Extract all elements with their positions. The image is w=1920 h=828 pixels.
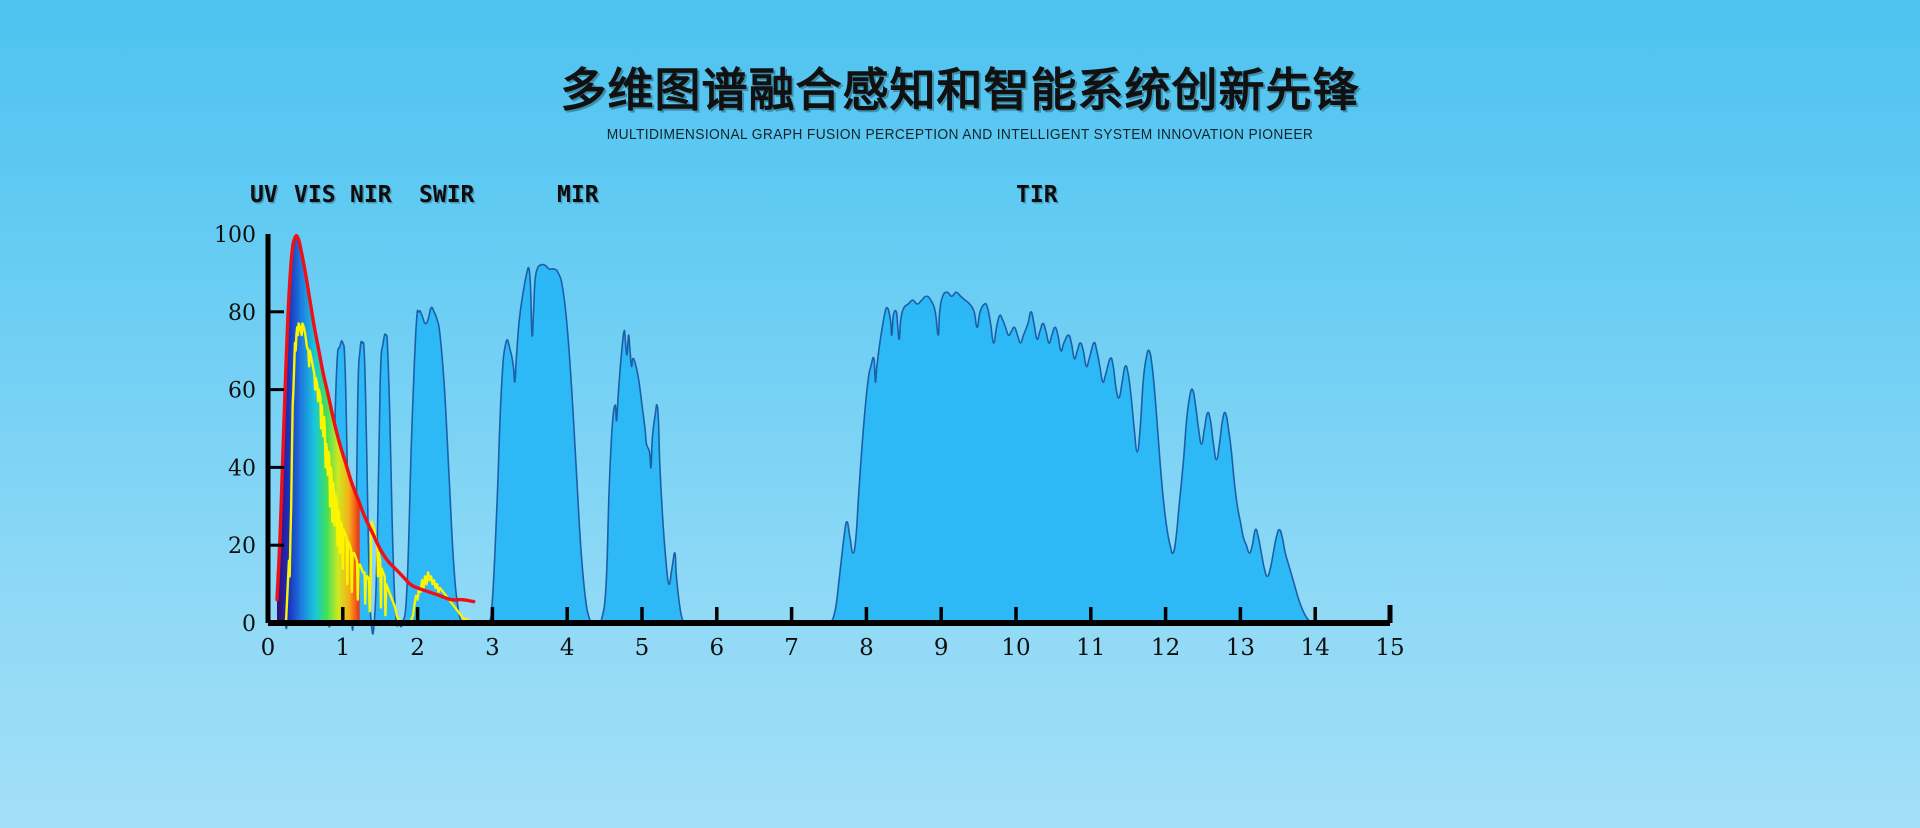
svg-text:14: 14 xyxy=(1301,635,1330,661)
svg-text:15: 15 xyxy=(1375,635,1404,661)
svg-text:4: 4 xyxy=(560,635,575,661)
svg-text:1: 1 xyxy=(335,635,350,661)
svg-text:8: 8 xyxy=(859,635,874,661)
svg-text:0: 0 xyxy=(261,635,276,661)
svg-text:100: 100 xyxy=(214,223,256,248)
svg-text:80: 80 xyxy=(228,301,256,326)
svg-text:0: 0 xyxy=(242,612,256,637)
svg-text:9: 9 xyxy=(934,635,949,661)
svg-text:3: 3 xyxy=(485,635,500,661)
svg-text:10: 10 xyxy=(1001,635,1030,661)
svg-text:6: 6 xyxy=(709,635,724,661)
svg-text:13: 13 xyxy=(1226,635,1255,661)
svg-text:11: 11 xyxy=(1076,635,1105,661)
svg-text:60: 60 xyxy=(228,379,256,404)
transmittance-area xyxy=(268,264,1390,634)
svg-text:5: 5 xyxy=(635,635,650,661)
banner-root: 多维图谱融合感知和智能系统创新先锋 MULTIDIMENSIONAL GRAPH… xyxy=(0,0,1920,828)
svg-text:7: 7 xyxy=(784,635,799,661)
svg-text:40: 40 xyxy=(228,456,256,481)
svg-text:20: 20 xyxy=(228,534,256,559)
spectrum-chart: 0204060801000123456789101112131415 xyxy=(0,0,1920,828)
svg-text:2: 2 xyxy=(410,635,425,661)
svg-text:12: 12 xyxy=(1151,635,1180,661)
